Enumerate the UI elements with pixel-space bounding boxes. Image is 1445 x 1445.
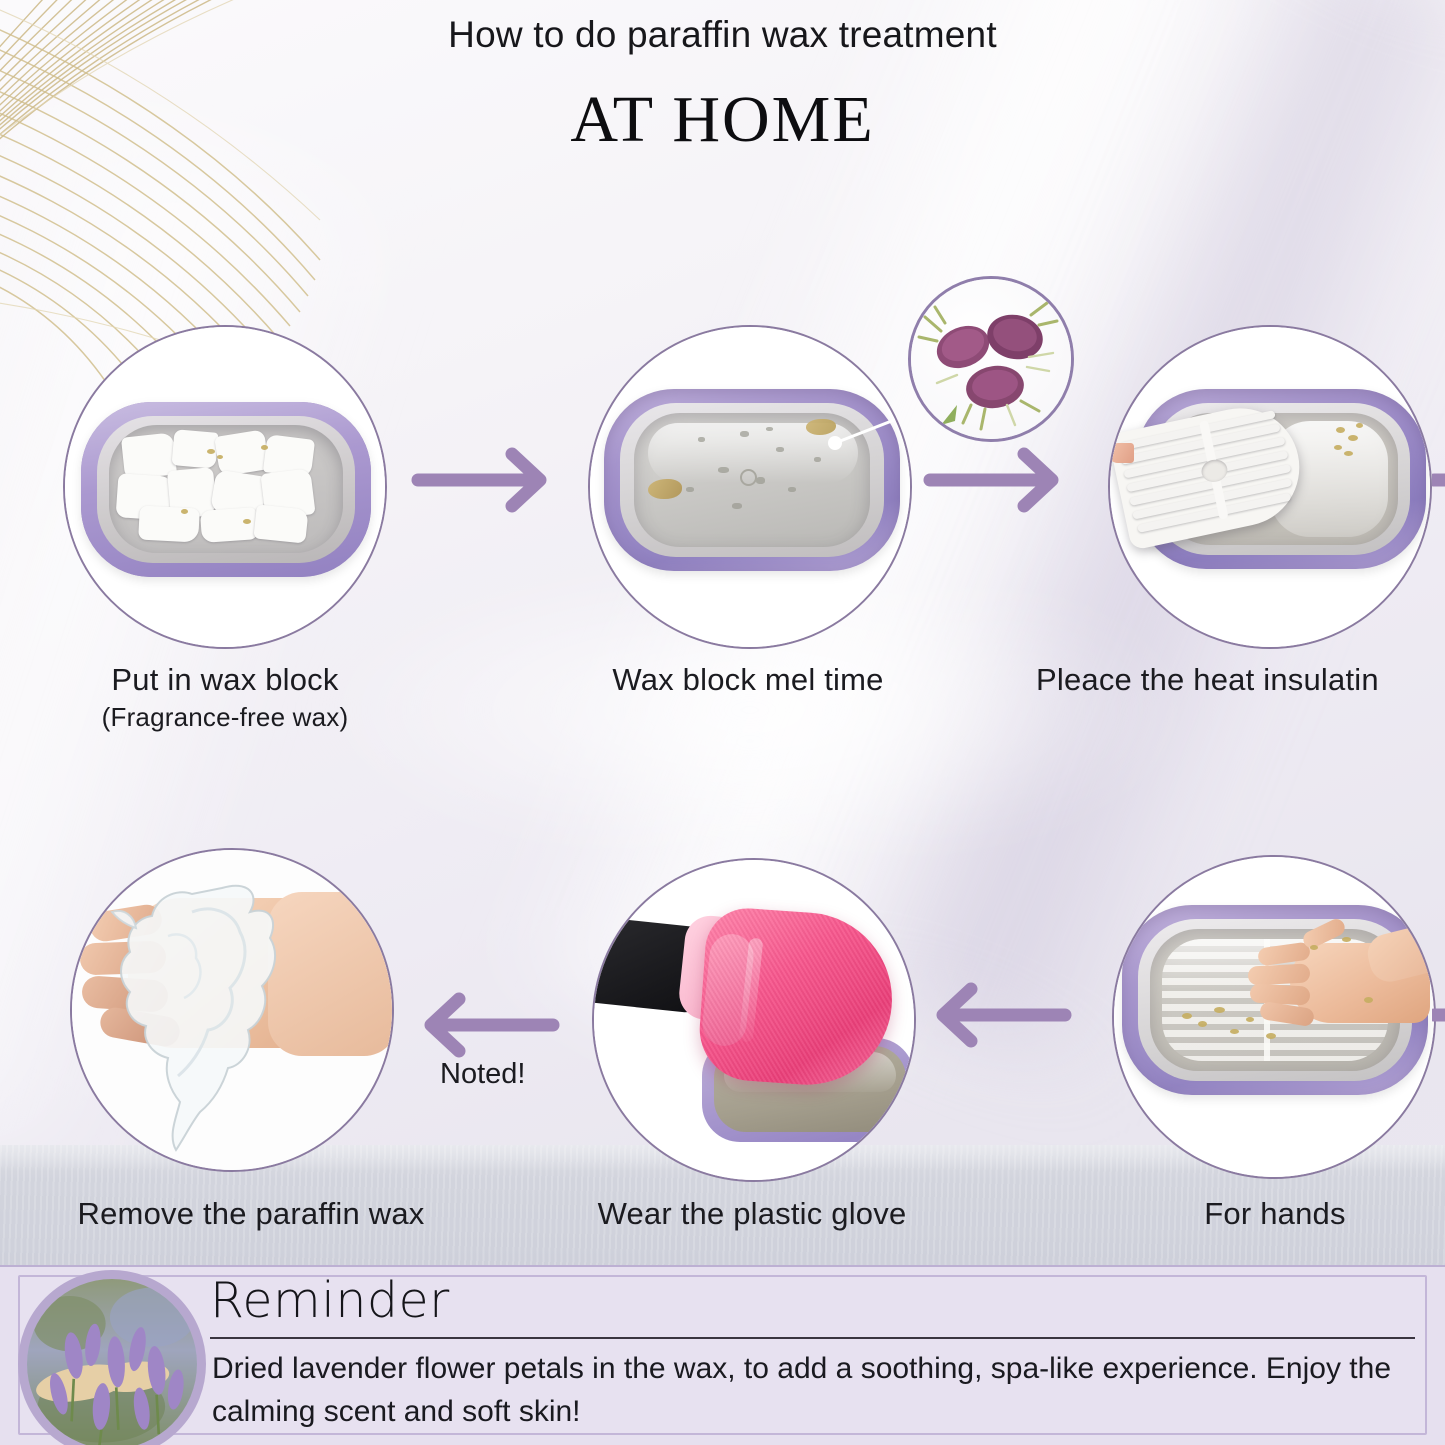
reminder-body: Dried lavender flower petals in the wax,… [212, 1348, 1422, 1433]
lavender-field-photo [18, 1270, 206, 1445]
step-1-subcaption: (Fragrance-free wax) [0, 702, 450, 733]
step-3-caption: Pleace the heat insulatin [1036, 662, 1445, 698]
infographic-page: How to do paraffin wax treatment AT HOME… [0, 0, 1445, 1445]
noted-label: Noted! [440, 1058, 525, 1091]
arrow-step5-to-step6 [408, 985, 563, 1065]
step-1-circle[interactable] [63, 325, 387, 649]
step-6-circle[interactable] [70, 848, 394, 1172]
arrow-step3-to-step4 [1432, 440, 1445, 520]
step-3-circle[interactable] [1108, 325, 1432, 649]
arrow-step4-to-step5 [920, 975, 1075, 1055]
lavender-bud-callout-circle[interactable] [908, 276, 1074, 442]
step-2-circle[interactable] [588, 325, 912, 649]
peeled-wax-sheet [72, 850, 392, 1170]
step-1-caption: Put in wax block [0, 662, 450, 698]
step-6-caption: Remove the paraffin wax [16, 1196, 486, 1232]
step-4-circle[interactable] [1112, 855, 1436, 1179]
reminder-divider [210, 1337, 1415, 1339]
arrow-right-edge-partial [1432, 975, 1445, 1055]
step-5-circle[interactable] [592, 858, 916, 1182]
step-2-caption: Wax block mel time [548, 662, 948, 698]
page-title: AT HOME [0, 82, 1445, 158]
arrow-step2-to-step3 [920, 440, 1075, 520]
page-subtitle: How to do paraffin wax treatment [0, 14, 1445, 56]
step-5-caption: Wear the plastic glove [552, 1196, 952, 1232]
step-4-caption: For hands [1110, 1196, 1440, 1232]
dried-lavender-buds-icon [911, 279, 1071, 439]
hand-in-wax [1218, 921, 1436, 1051]
reminder-title: Reminder [210, 1272, 450, 1329]
arrow-step1-to-step2 [408, 440, 563, 520]
